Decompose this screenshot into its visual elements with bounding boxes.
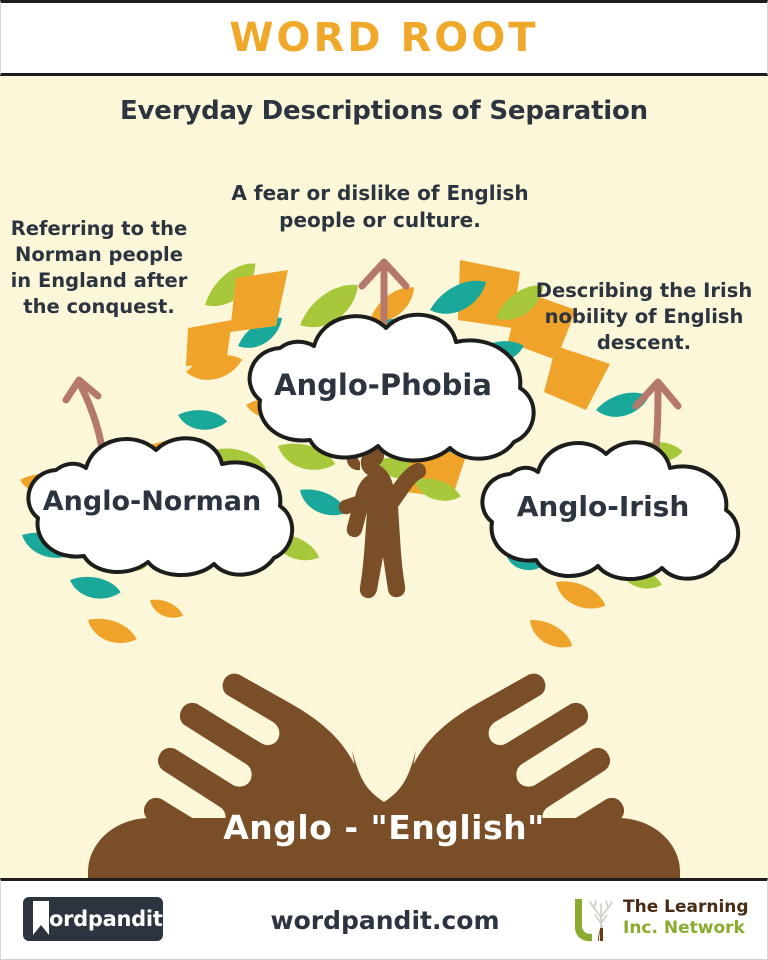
subtitle: Everyday Descriptions of Separation	[0, 96, 768, 126]
root-label: Anglo - "English"	[0, 808, 768, 847]
bookmark-icon	[31, 901, 51, 937]
page-title: WORD ROOT	[229, 15, 538, 61]
description-anglo-norman: Referring to the Norman people in Englan…	[4, 216, 194, 321]
description-anglo-phobia: A fear or dislike of English people or c…	[196, 180, 564, 234]
wordpandit-logo[interactable]: ordpandit	[23, 897, 163, 941]
infographic-page: WORD ROOT Everyday Descriptions of Separ…	[0, 0, 768, 960]
footer-url-text[interactable]: wordpandit.com	[270, 906, 499, 935]
branch-label: Anglo-Phobia	[218, 368, 548, 402]
partner-line-1: The Learning	[623, 897, 749, 918]
footer-bar: ordpandit wordpandit.com The Lea	[0, 878, 768, 960]
branch-label: Anglo-Norman	[2, 486, 302, 517]
description-anglo-irish: Describing the Irish nobility of English…	[520, 278, 768, 356]
the-learning-network-logo[interactable]: The Learning Inc. Network	[567, 895, 753, 947]
wordpandit-logo-text: ordpandit	[49, 907, 163, 931]
branch-label: Anglo-Irish	[458, 490, 748, 523]
branch-cloud-anglo-irish[interactable]: Anglo-Irish	[458, 428, 748, 588]
tree-icon	[567, 895, 619, 945]
header-bar: WORD ROOT	[0, 0, 768, 76]
branch-cloud-anglo-norman[interactable]: Anglo-Norman	[2, 424, 302, 584]
the-learning-network-text: The Learning Inc. Network	[623, 897, 749, 940]
partner-line-2: Inc. Network	[623, 918, 749, 939]
